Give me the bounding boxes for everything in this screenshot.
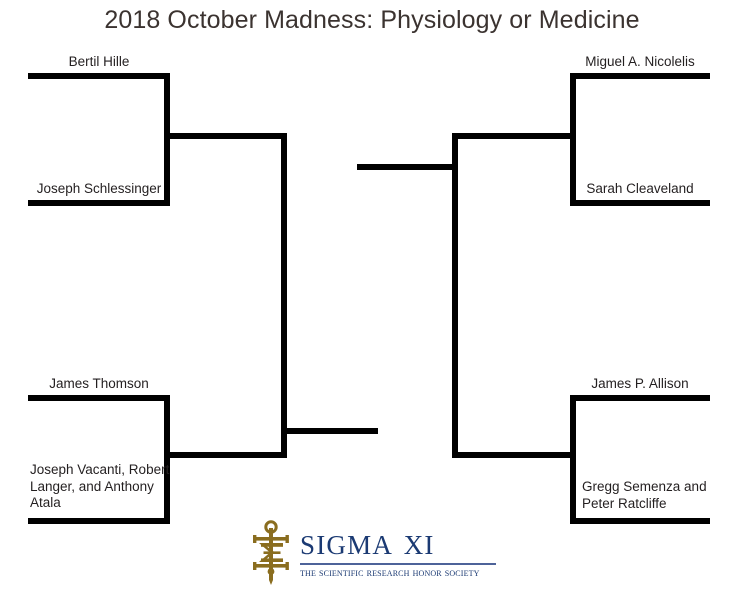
competitor-left-top-upper[interactable]: Bertil Hille — [28, 54, 170, 71]
bracket-line-right-semi-lower — [452, 452, 574, 458]
bracket-line-right-top-lower — [570, 200, 710, 206]
bracket-line-left-semi-lower — [170, 452, 287, 458]
competitor-right-top-lower[interactable]: Sarah Cleaveland — [570, 181, 710, 198]
bracket-line-right-top-upper — [570, 73, 710, 79]
sigma-xi-name: Sigma Xi — [300, 522, 498, 562]
competitor-left-bottom-upper[interactable]: James Thomson — [28, 376, 170, 393]
competitor-right-bottom-upper[interactable]: James P. Allison — [570, 376, 710, 393]
bracket-line-left-top-lower — [28, 200, 170, 206]
bracket-connector-right-bottom — [570, 395, 576, 524]
sigma-xi-emblem-icon — [248, 520, 294, 586]
bracket-connector-left-semi — [281, 133, 287, 458]
competitor-right-top-upper[interactable]: Miguel A. Nicolelis — [570, 54, 710, 71]
bracket-line-final-left — [281, 428, 378, 434]
competitor-left-top-lower[interactable]: Joseph Schlessinger — [28, 181, 170, 198]
bracket-line-left-bottom-lower — [28, 518, 170, 524]
sigma-xi-divider — [300, 563, 496, 565]
bracket-line-final-right — [357, 164, 452, 170]
bracket-line-right-bottom-upper — [570, 395, 710, 401]
sigma-xi-logo: Sigma Xi The Scientific Research Honor S… — [248, 518, 498, 590]
bracket-line-left-top-upper — [28, 73, 170, 79]
page-title: 2018 October Madness: Physiology or Medi… — [0, 4, 744, 37]
bracket-line-right-bottom-lower — [570, 518, 710, 524]
bracket-line-left-bottom-upper — [28, 395, 170, 401]
bracket-line-right-semi-upper — [452, 133, 574, 139]
competitor-right-bottom-lower[interactable]: Gregg Semenza and Peter Ratcliffe — [582, 479, 717, 512]
sigma-xi-wordmark: Sigma Xi The Scientific Research Honor S… — [300, 522, 498, 580]
bracket-connector-right-semi — [452, 133, 458, 458]
bracket-line-left-semi-upper — [170, 133, 287, 139]
competitor-left-bottom-lower[interactable]: Joseph Vacanti, Robert Langer, and Antho… — [30, 462, 170, 512]
sigma-xi-tagline: The Scientific Research Honor Society — [300, 567, 498, 580]
